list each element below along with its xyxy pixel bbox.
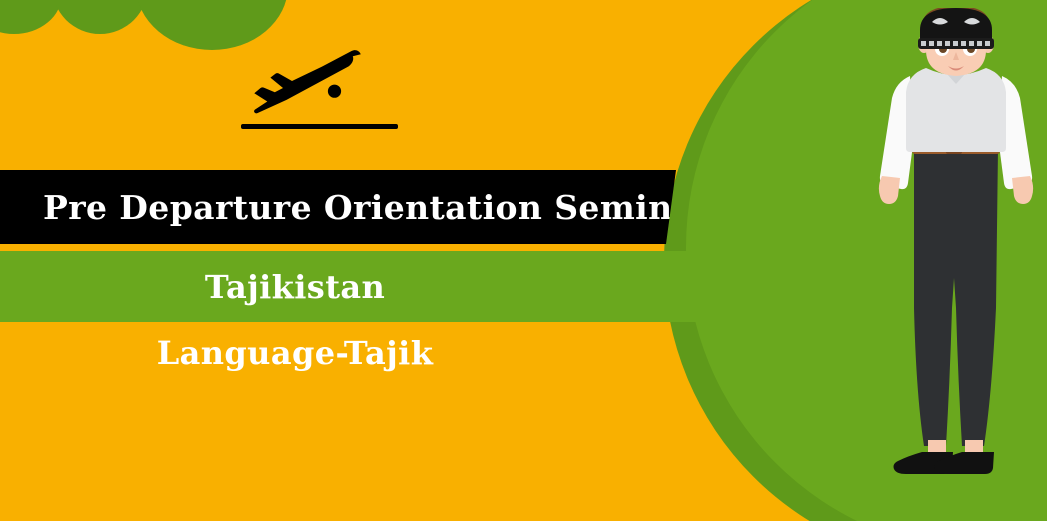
poster-slide: Pre Departure Orientation Seminar Tajiki… xyxy=(0,0,1047,521)
hand-right xyxy=(1012,176,1033,204)
hand-left xyxy=(879,176,900,204)
ankle-left xyxy=(928,440,946,454)
runway-line xyxy=(241,124,398,129)
green-circle-decoration xyxy=(52,0,148,34)
green-circle-decoration xyxy=(0,0,62,34)
country-name: Tajikistan xyxy=(205,268,385,306)
tubeteika-cap xyxy=(918,8,994,49)
ankle-right xyxy=(965,440,983,454)
title-banner: Pre Departure Orientation Seminar xyxy=(0,170,676,244)
page-title: Pre Departure Orientation Seminar xyxy=(43,188,712,227)
tajik-man-illustration xyxy=(866,8,1046,488)
airplane-takeoff-icon xyxy=(236,48,368,122)
green-circle-decoration xyxy=(136,0,288,50)
language-row: Language-Tajik xyxy=(0,322,700,384)
trousers xyxy=(914,148,998,446)
country-band: Tajikistan xyxy=(0,251,700,322)
language-label: Language-Tajik xyxy=(157,334,434,372)
